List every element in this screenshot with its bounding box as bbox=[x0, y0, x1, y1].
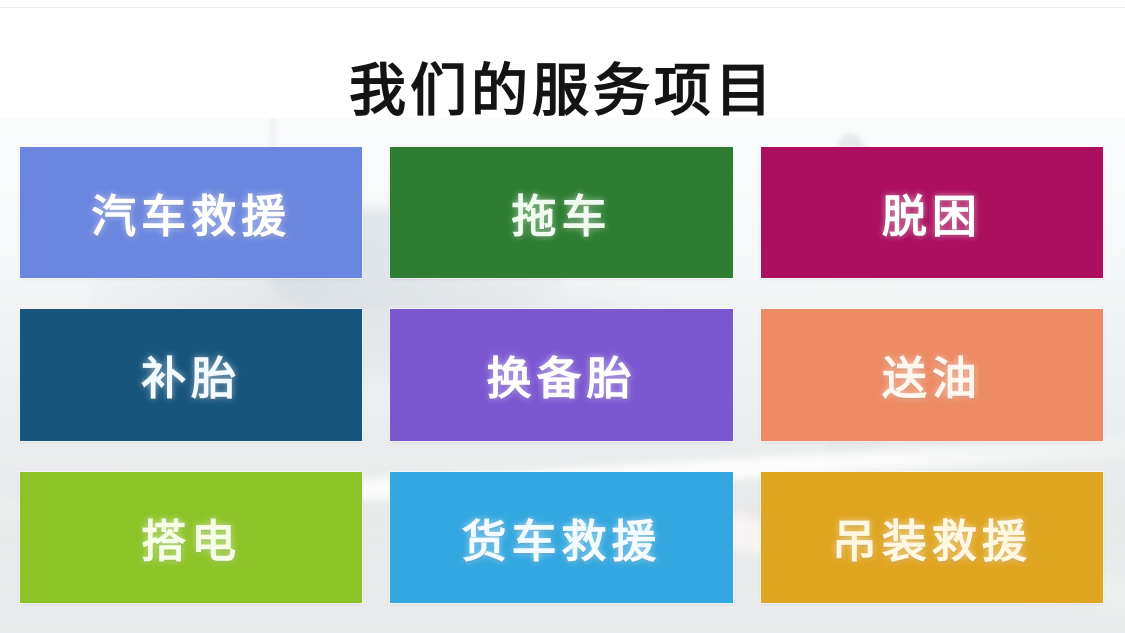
tile-label: 汽车救援 bbox=[91, 180, 291, 245]
tile-jump-start[interactable]: 搭电 bbox=[20, 472, 362, 603]
service-grid: 汽车救援 拖车 脱困 补胎 换备胎 送油 搭电 货车救援 吊装救援 bbox=[20, 147, 1103, 603]
tile-spare-tire-change[interactable]: 换备胎 bbox=[390, 309, 732, 440]
tile-crane-lifting-rescue[interactable]: 吊装救援 bbox=[761, 472, 1103, 603]
tile-truck-rescue[interactable]: 货车救援 bbox=[390, 472, 732, 603]
tile-label: 补胎 bbox=[141, 342, 241, 407]
tile-label: 货车救援 bbox=[461, 505, 661, 570]
tile-fuel-delivery[interactable]: 送油 bbox=[761, 309, 1103, 440]
tile-label: 拖车 bbox=[511, 180, 611, 245]
tile-label: 送油 bbox=[882, 342, 982, 407]
tile-car-rescue[interactable]: 汽车救援 bbox=[20, 147, 362, 278]
tile-label: 搭电 bbox=[141, 505, 241, 570]
page-title: 我们的服务项目 bbox=[0, 60, 1125, 123]
tile-label: 吊装救援 bbox=[832, 505, 1032, 570]
tile-label: 换备胎 bbox=[486, 342, 636, 407]
tile-tire-repair[interactable]: 补胎 bbox=[20, 309, 362, 440]
background-hairline-divider bbox=[0, 7, 1125, 8]
service-poster: 我们的服务项目 汽车救援 拖车 脱困 补胎 换备胎 送油 搭电 货车救援 吊装救… bbox=[0, 0, 1125, 633]
tile-towing[interactable]: 拖车 bbox=[390, 147, 732, 278]
tile-extrication[interactable]: 脱困 bbox=[761, 147, 1103, 278]
tile-label: 脱困 bbox=[882, 180, 982, 245]
